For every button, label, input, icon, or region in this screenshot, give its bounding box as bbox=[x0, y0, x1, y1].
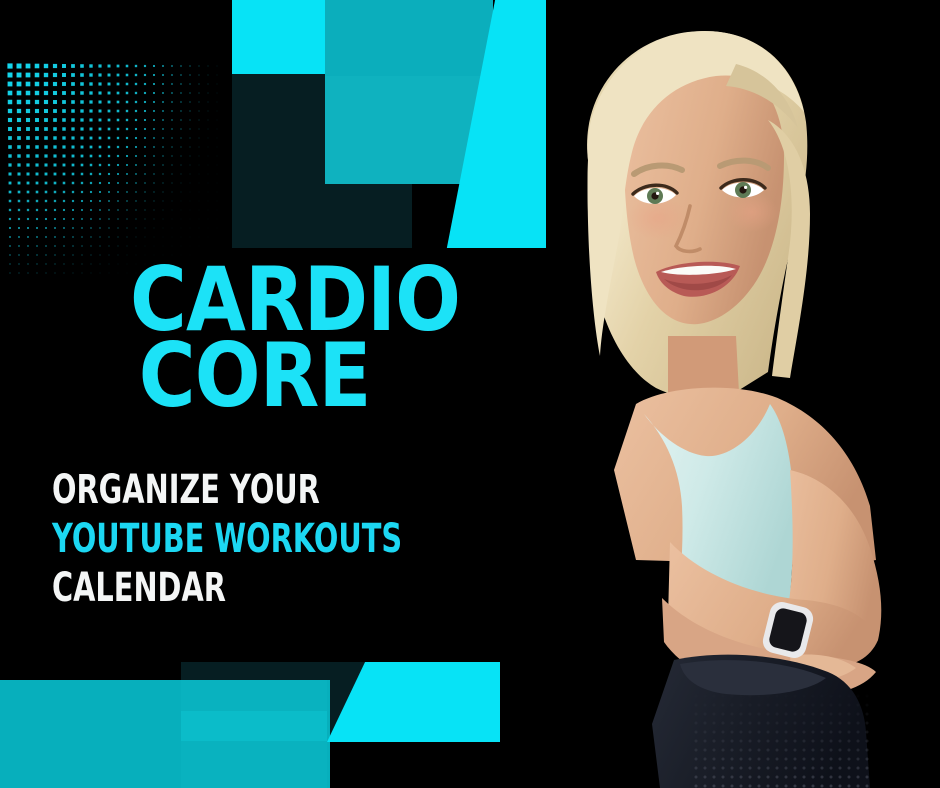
promo-poster: CARDIO CORE ORGANIZE YOUR YOUTUBE WORKOU… bbox=[0, 0, 940, 788]
subheading-line-3: CALENDAR bbox=[52, 564, 402, 613]
decor-top-dark-lower bbox=[232, 184, 412, 248]
fitness-model-photo bbox=[540, 0, 940, 788]
decor-top-cyan-square bbox=[232, 0, 325, 74]
poster-subheading: ORGANIZE YOUR YOUTUBE WORKOUTS CALENDAR bbox=[52, 466, 402, 612]
poster-headline: CARDIO CORE bbox=[130, 262, 460, 413]
halftone-dots-decoration bbox=[6, 62, 220, 276]
subheading-line-1: ORGANIZE YOUR bbox=[52, 466, 402, 515]
leggings-perforation bbox=[690, 690, 870, 788]
cheek-right bbox=[726, 192, 778, 232]
decor-bottom-teal-light bbox=[181, 711, 327, 741]
subheading-line-2: YOUTUBE WORKOUTS bbox=[52, 515, 402, 564]
